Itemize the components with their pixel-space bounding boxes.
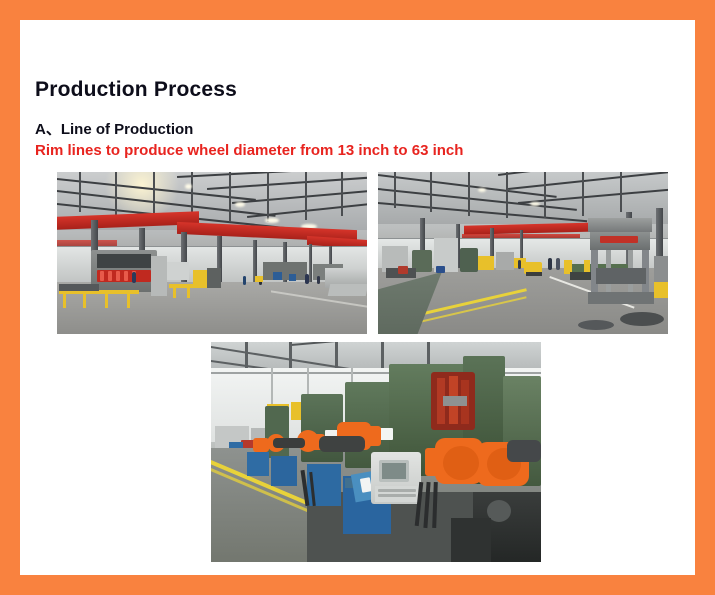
slide-canvas: Production Process A、Line of Production … (20, 20, 695, 575)
page-title: Production Process (35, 78, 237, 102)
section-subtitle: A、Line of Production (35, 118, 193, 139)
photo-rim-rolling-line (211, 342, 541, 562)
photo-factory-aisle-press-line (378, 172, 668, 334)
photo-factory-hall-overview (57, 172, 367, 334)
highlight-caption: Rim lines to produce wheel diameter from… (35, 142, 463, 159)
